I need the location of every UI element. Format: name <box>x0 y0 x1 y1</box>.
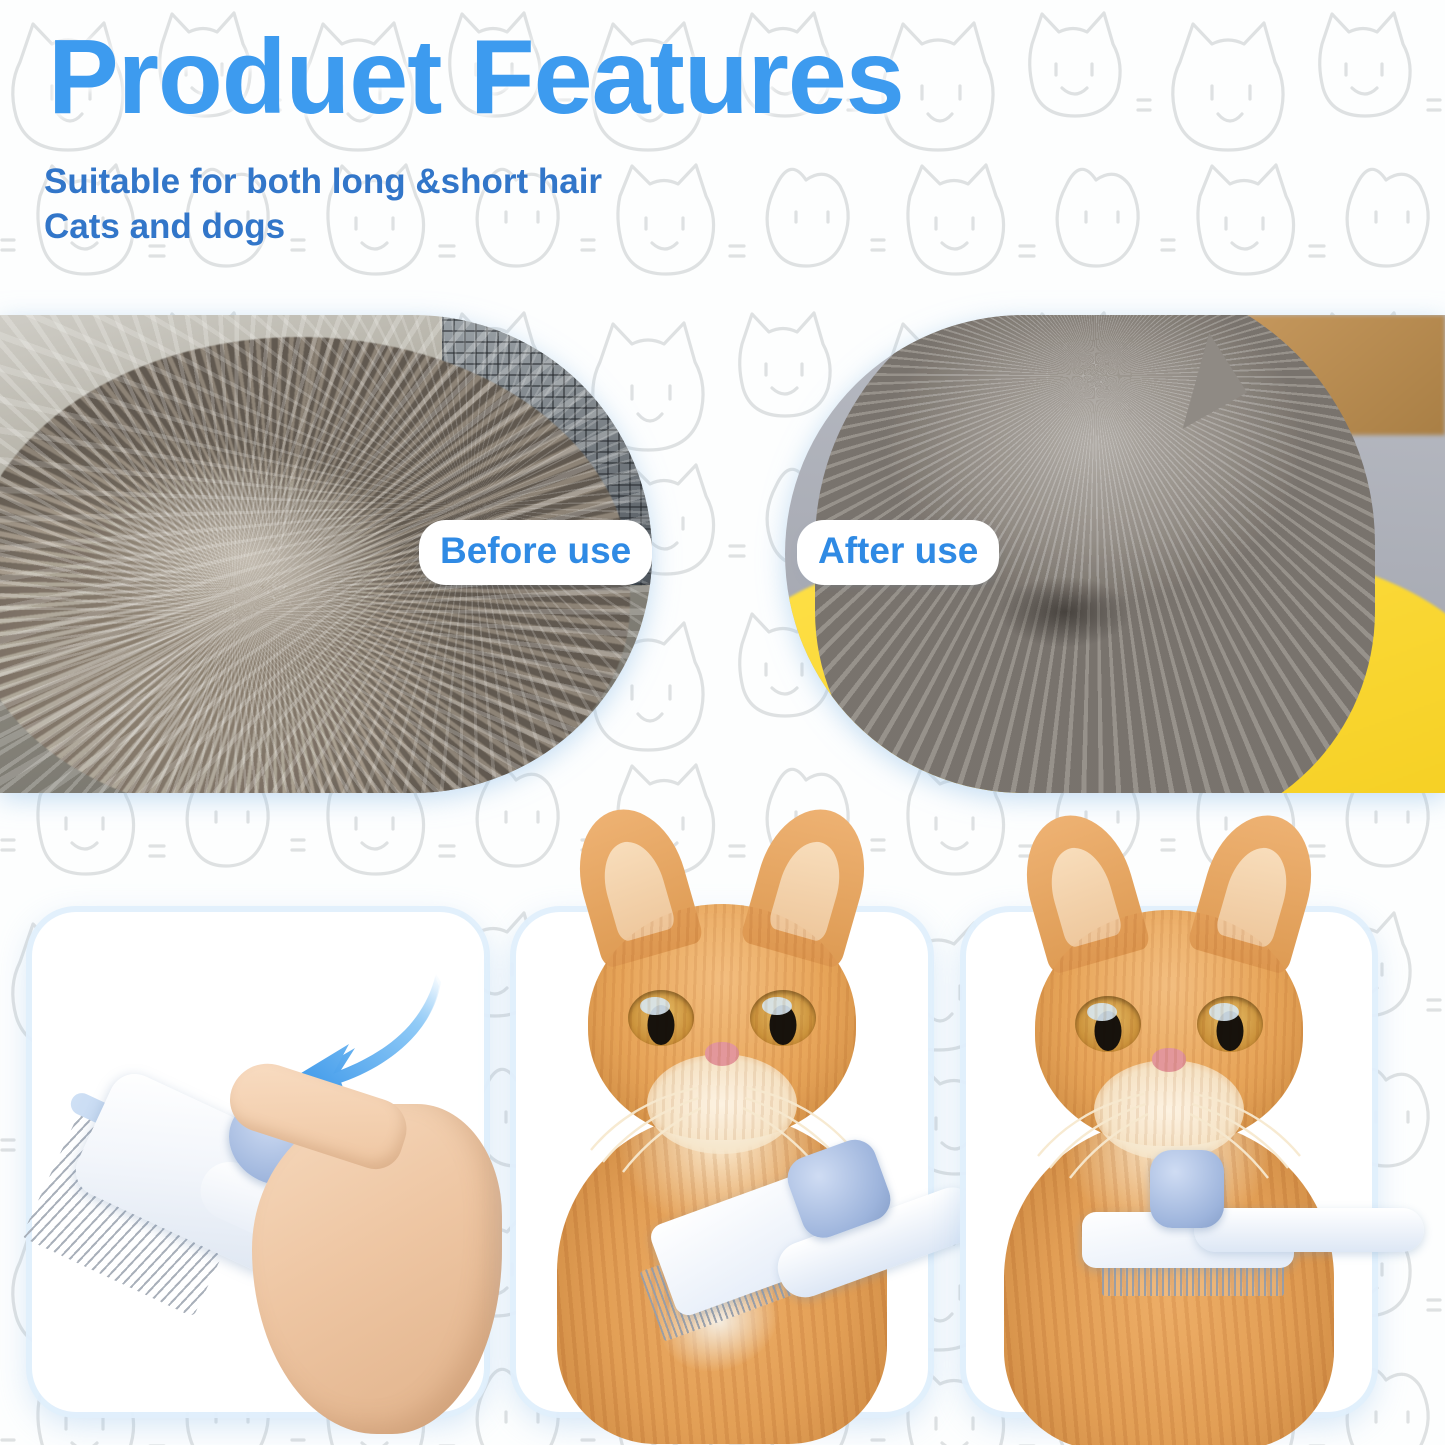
panel-3-content <box>966 912 1372 1412</box>
subtitle-line-2: Cats and dogs <box>44 205 602 250</box>
cat-eye-gleam-right <box>762 997 792 1015</box>
brush-handle-shaft <box>1194 1208 1424 1252</box>
before-after-comparison <box>0 315 1445 793</box>
cat-ear-inner-left <box>594 835 676 943</box>
cat-ear-inner-right <box>1214 841 1296 949</box>
cat-eye-right <box>1197 996 1263 1052</box>
before-use-label: Before use <box>424 525 647 580</box>
clean-grooming-brush-on-cat <box>1066 1156 1396 1396</box>
panel-1-content <box>32 912 484 1412</box>
header: Produet Features Suitable for both long … <box>0 0 1445 300</box>
product-features-infographic: Produet Features Suitable for both long … <box>0 0 1445 1445</box>
after-use-label: After use <box>802 525 994 580</box>
fur-shadow <box>1000 577 1130 647</box>
cat-eye-gleam-left <box>640 997 670 1015</box>
cat-pupil-left <box>1095 1011 1122 1051</box>
page-title: Produet Features <box>48 22 904 133</box>
brush-and-hand-illustration <box>42 1072 482 1432</box>
cat-eye-right <box>750 990 816 1046</box>
cat-ear-inner-left <box>1041 841 1123 949</box>
cat-pupil-right <box>770 1005 797 1045</box>
cat-eye-gleam-left <box>1087 1003 1117 1021</box>
subtitle: Suitable for both long &short hair Cats … <box>44 160 602 250</box>
panel-2-content <box>516 912 928 1412</box>
cat-pupil-left <box>648 1005 675 1045</box>
panel-brush-in-hand <box>32 912 484 1412</box>
brush-retract-button-clean <box>1150 1150 1224 1228</box>
panel-cat-brushing <box>516 912 928 1412</box>
cat-eye-left <box>1075 996 1141 1052</box>
cat-eye-gleam-right <box>1209 1003 1239 1021</box>
cat-pupil-right <box>1217 1011 1244 1051</box>
subtitle-line-1: Suitable for both long &short hair <box>44 160 602 205</box>
panel-cat-clean-brush <box>966 912 1372 1412</box>
cat-eye-left <box>628 990 694 1046</box>
cat-ear-inner-right <box>767 835 849 943</box>
